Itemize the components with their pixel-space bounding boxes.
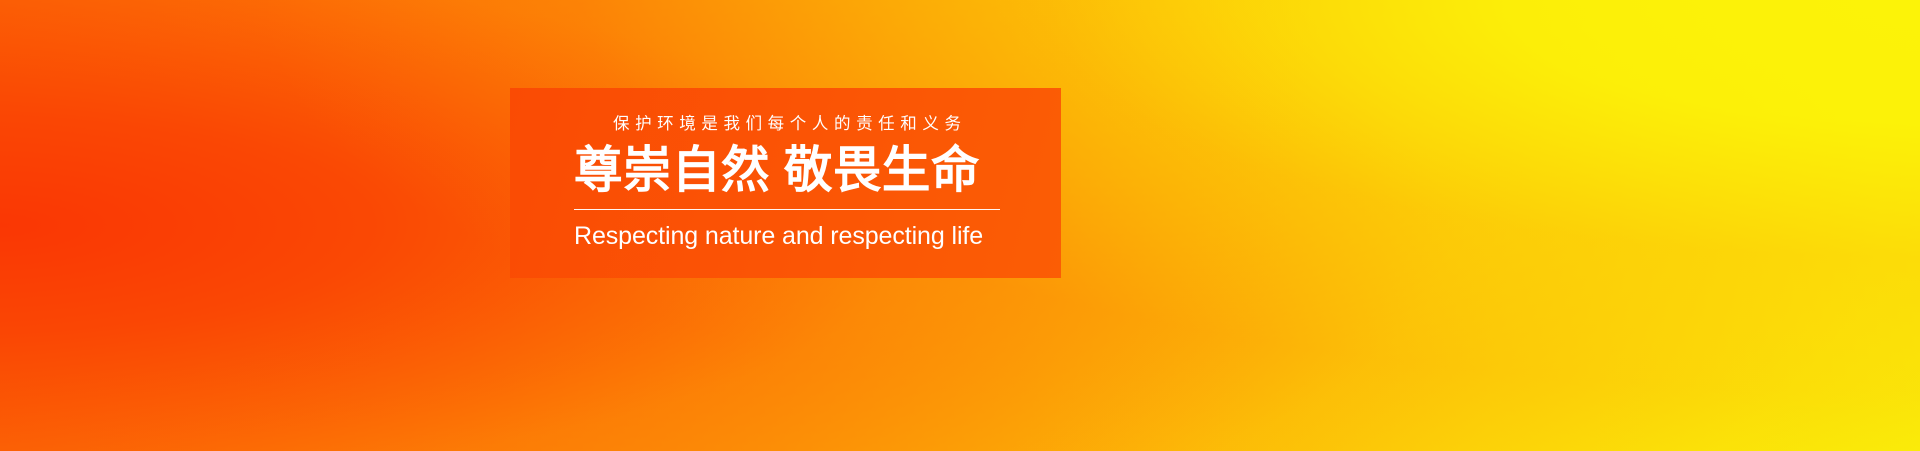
slogan-divider bbox=[574, 209, 1000, 210]
slogan-headline: 尊崇自然 敬畏生命 bbox=[574, 144, 987, 197]
slogan-panel: 保护环境是我们每个人的责任和义务 尊崇自然 敬畏生命 Respecting na… bbox=[510, 88, 1061, 278]
slogan-tagline-english: Respecting nature and respecting life bbox=[574, 223, 1000, 251]
slogan-panel-content: 保护环境是我们每个人的责任和义务 尊崇自然 敬畏生命 Respecting na… bbox=[574, 88, 1000, 278]
slogan-kicker: 保护环境是我们每个人的责任和义务 bbox=[574, 116, 1000, 133]
promotional-banner: 保护环境是我们每个人的责任和义务 尊崇自然 敬畏生命 Respecting na… bbox=[0, 0, 1920, 451]
